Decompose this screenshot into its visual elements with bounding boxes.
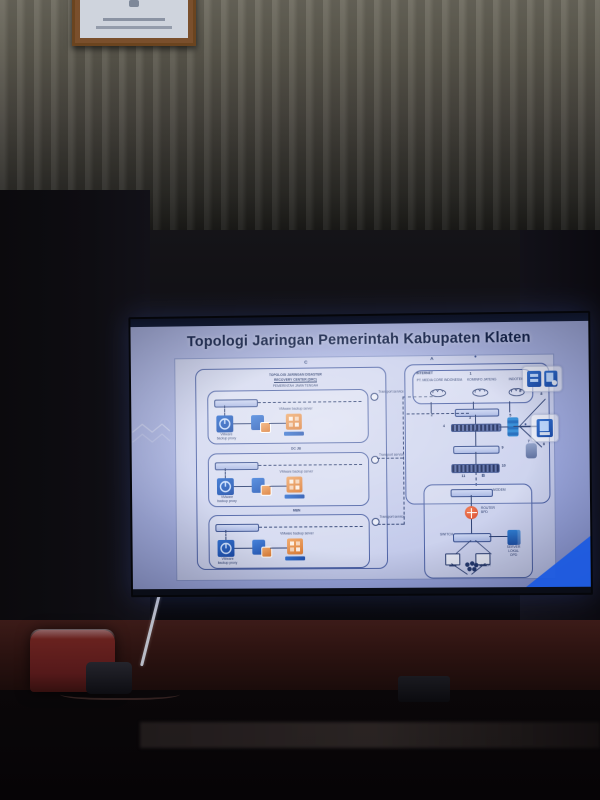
auditorium-room: Topologi Jaringan Pemerintah Kabupaten K… bbox=[0, 0, 600, 800]
left-shadow bbox=[0, 190, 150, 650]
display-bezel bbox=[128, 311, 593, 597]
certificate-text-line-1 bbox=[103, 18, 165, 21]
floor-light-band bbox=[140, 722, 600, 748]
certificate-emblem bbox=[129, 0, 139, 7]
presentation-display: Topologi Jaringan Pemerintah Kabupaten K… bbox=[128, 311, 593, 597]
certificate-text-line-2 bbox=[96, 26, 172, 29]
speaker-box bbox=[398, 676, 450, 702]
floor-cable bbox=[60, 686, 180, 700]
framed-certificate bbox=[72, 0, 196, 46]
certificate-mat bbox=[80, 0, 188, 38]
chair-rim bbox=[30, 629, 115, 639]
